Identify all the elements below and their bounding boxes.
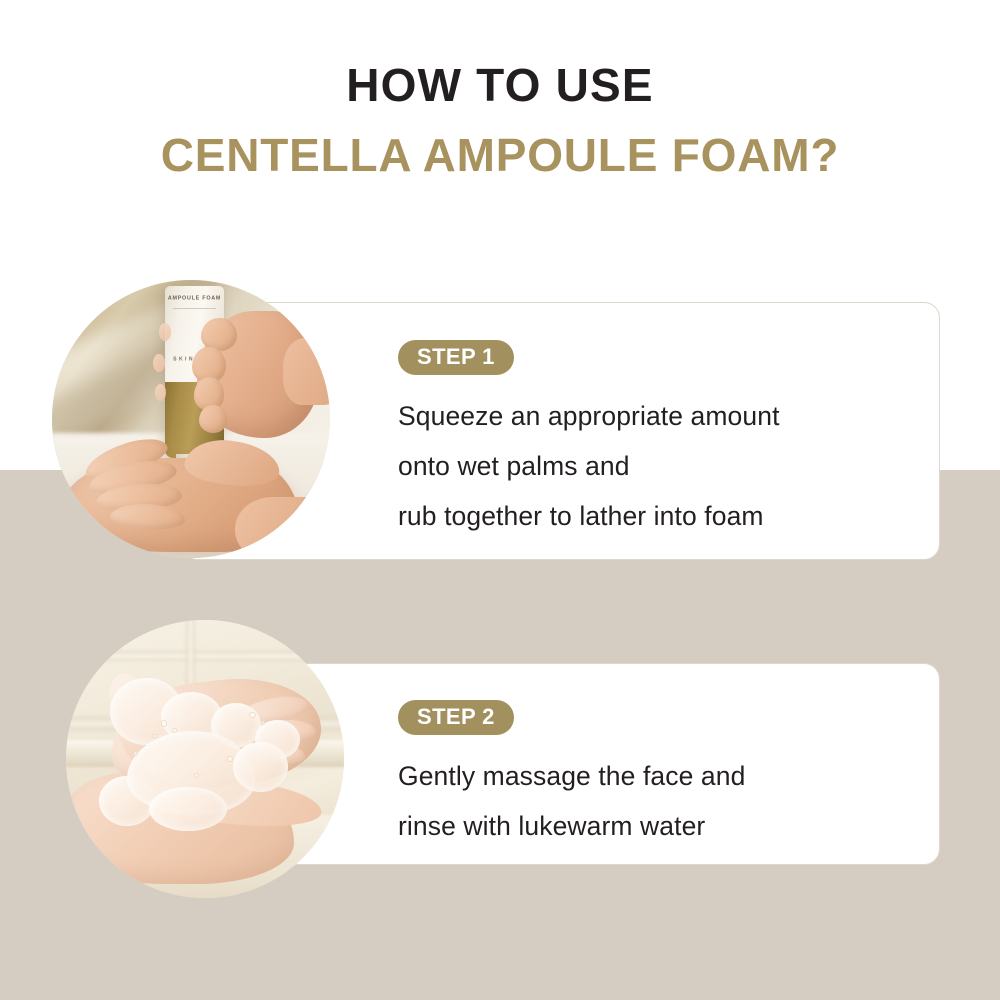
step-2-badge: STEP 2 (398, 700, 514, 735)
step-1-description: Squeeze an appropriate amount onto wet p… (398, 392, 918, 541)
knuckle (199, 405, 227, 433)
step-2-photo (66, 620, 344, 898)
photo-lathering-hands-image (66, 620, 344, 898)
hand-holding-wrist (283, 338, 330, 405)
foam-bubble (261, 720, 265, 724)
photo-squeeze-tube-image: AMPOULE FOAM SKIN1004 (52, 280, 330, 558)
page-subtitle: CENTELLA AMPOULE FOAM? (0, 132, 1000, 178)
step-2-description-line-1: Gently massage the face and (398, 752, 918, 802)
foam-bubble (227, 756, 233, 762)
step-1-description-line-2: onto wet palms and (398, 442, 918, 492)
product-label-top: AMPOULE FOAM (165, 295, 225, 301)
foam-lather (149, 787, 227, 831)
foam-bubble (152, 734, 156, 738)
knuckle (201, 318, 237, 351)
step-2-content: STEP 2 Gently massage the face and rinse… (398, 700, 918, 852)
fingernail (153, 354, 165, 372)
step-2-description-line-2: rinse with lukewarm water (398, 802, 918, 852)
step-1-photo: AMPOULE FOAM SKIN1004 (52, 280, 330, 558)
step-1-description-line-1: Squeeze an appropriate amount (398, 392, 918, 442)
fingernail (159, 323, 171, 341)
step-1-content: STEP 1 Squeeze an appropriate amount ont… (398, 340, 918, 541)
page-title: HOW TO USE (0, 62, 1000, 108)
foam-bubble (161, 720, 168, 727)
tile-grout-line (66, 651, 344, 661)
step-1-description-line-3: rub together to lather into foam (398, 492, 918, 542)
how-to-use-infographic: HOW TO USE CENTELLA AMPOULE FOAM? AMPOUL… (0, 0, 1000, 1000)
palm-wrist (235, 497, 330, 558)
step-2-description: Gently massage the face and rinse with l… (398, 752, 918, 852)
foam-bubble (133, 751, 138, 756)
foam-bubble (194, 773, 199, 778)
fingernail (155, 384, 166, 401)
page-heading-group: HOW TO USE CENTELLA AMPOULE FOAM? (0, 62, 1000, 178)
foam-bubble (249, 712, 255, 718)
step-1-badge: STEP 1 (398, 340, 514, 375)
